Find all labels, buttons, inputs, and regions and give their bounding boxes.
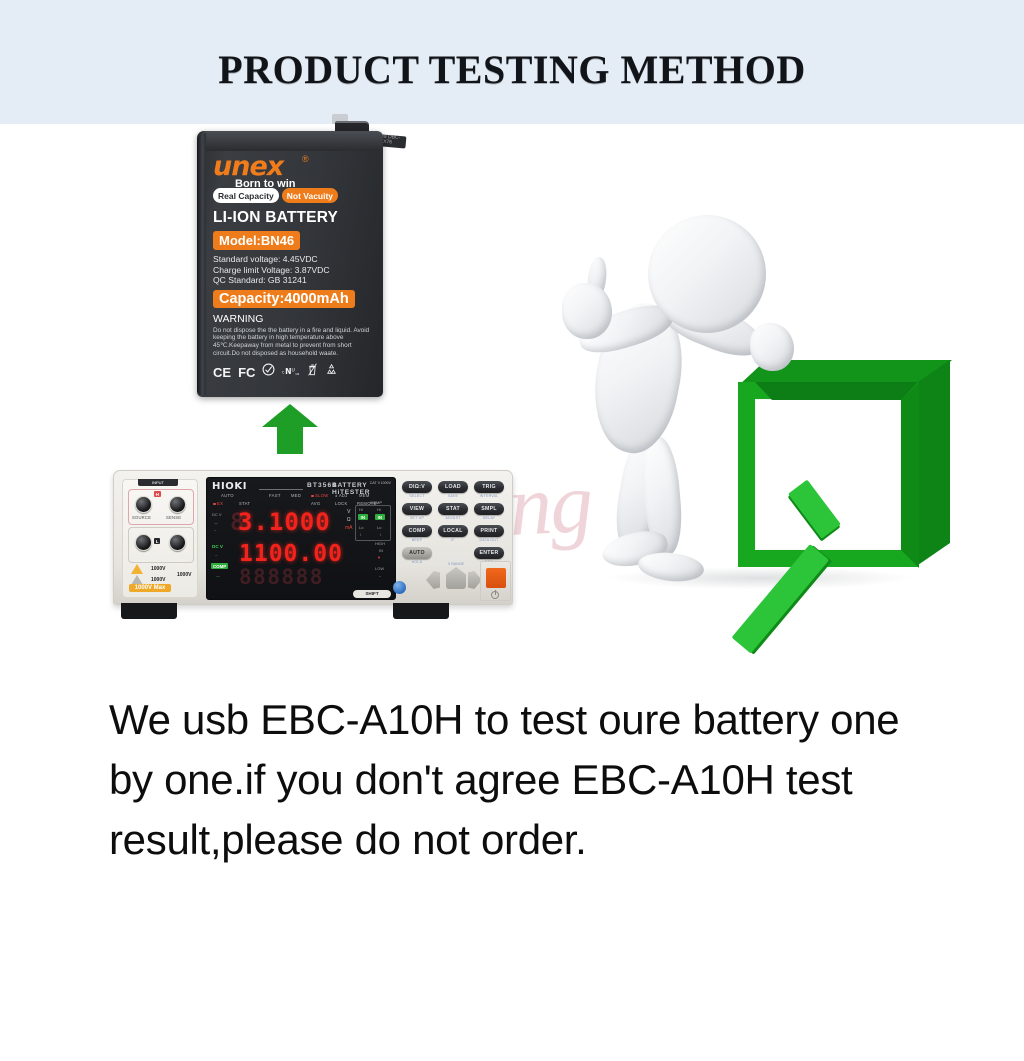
nav-up-button[interactable]	[446, 567, 466, 589]
battery-logo-row: unex ® Born to win	[213, 153, 379, 183]
input-label: INPUT	[138, 479, 178, 486]
indicator-lock: LOCK	[335, 501, 348, 506]
nav-left-button[interactable]	[426, 571, 440, 589]
figure-head	[648, 215, 766, 333]
power-symbol-icon	[491, 591, 499, 599]
unex-logo: unex	[213, 153, 379, 181]
green-checkbox-3d	[730, 360, 950, 575]
source-label: SOURCE	[132, 515, 151, 520]
brand-divider	[259, 489, 303, 490]
arrow-shaft	[277, 424, 303, 454]
primary-mode-label: DC V	[212, 512, 222, 517]
weee-bin-icon	[307, 363, 318, 381]
key-sub-trig: INTERVAL	[474, 494, 504, 498]
secondary-readout-value: 1100.00	[239, 541, 343, 567]
key-sub-comp: BEEP	[402, 538, 432, 542]
battery-left-edge	[197, 133, 206, 395]
indicator-slow: SLOW	[311, 493, 329, 498]
key-sub-load: SAVE	[438, 494, 468, 498]
comp-arrow-left-icon: \	[360, 532, 361, 537]
key-sub-local: IF	[438, 538, 468, 542]
indicator-med: MED	[291, 493, 301, 498]
key-sub-stat: ADJUST	[438, 516, 468, 520]
registered-mark-icon: ®	[302, 154, 309, 164]
green-up-arrow-icon	[262, 404, 318, 454]
key-trig[interactable]: TRIG	[474, 481, 504, 493]
secondary-label-in: IN	[379, 548, 383, 553]
hioki-brand-label: HIOKI	[212, 481, 247, 492]
indicator-auto: AUTO	[221, 493, 234, 498]
secondary-label-high: HIGH	[375, 541, 385, 546]
indicator-avg: AVG	[311, 501, 320, 506]
jack-sense-h[interactable]	[169, 496, 186, 513]
key-print[interactable]: PRINT	[474, 525, 504, 537]
secondary-ghost-digits: 888888	[239, 565, 324, 589]
terminal-l-mark: L	[154, 538, 160, 544]
key-sub-auto: HOLD	[402, 560, 432, 564]
hioki-battery-tester: INPUT H L SOURCE SENSE 1000V 1000V 1000V…	[113, 470, 513, 622]
voltage-mark-1: 1000V	[151, 566, 165, 572]
range-sub-label: V RANGE	[436, 562, 476, 566]
battery-tagline: Born to win	[235, 178, 379, 190]
checkmark-short-stroke	[788, 480, 841, 539]
secondary-mode-dash: ~	[215, 553, 217, 558]
indicator-stat: STAT	[239, 501, 250, 506]
comp-arrow-right-icon: /	[380, 532, 381, 537]
key-sub-smpl: DELAY	[474, 516, 504, 520]
checkbox-inner-top-shade	[755, 382, 918, 400]
key-local[interactable]: LOCAL	[438, 525, 468, 537]
certification-row: CE FC cNUus	[213, 363, 379, 381]
comp-row-hi-2: Hi	[377, 507, 381, 512]
warning-triangle-icon-1	[131, 564, 143, 574]
svg-text:us: us	[296, 372, 300, 376]
svg-text:N: N	[286, 367, 292, 376]
badge-real-capacity: Real Capacity	[213, 188, 279, 203]
indicator-ex: EX	[213, 501, 223, 506]
cat-rating-note: CAT II 1000V	[370, 481, 391, 485]
primary-mode-dash-1: —	[214, 520, 218, 525]
page-title: PRODUCT TESTING METHOD	[0, 46, 1024, 93]
battery-model-tag: Model:BN46	[213, 231, 300, 250]
figure-hand-left	[562, 283, 612, 339]
recycle-icon	[325, 363, 338, 381]
comp-cell-in-2: IN	[375, 514, 385, 520]
badge-not-vacuity: Not Vacuity	[282, 188, 338, 203]
key-smpl[interactable]: SMPL	[474, 503, 504, 515]
comp-row-hi-1: Hi	[359, 507, 363, 512]
unit-ma: mA	[345, 524, 353, 532]
tester-foot-right	[393, 603, 449, 619]
secondary-tilde-icon: ~	[379, 574, 381, 579]
secondary-mode-label: DC V	[212, 544, 223, 549]
secondary-comp-indicator: COMP	[211, 563, 228, 569]
shift-button[interactable]: SHIFT	[353, 590, 391, 598]
battery-top-strip	[201, 131, 383, 151]
voltage-mark-2: 1000V	[151, 577, 165, 583]
battery-spec-qc-standard: QC Standard: GB 31241	[213, 275, 379, 286]
tester-chassis: INPUT H L SOURCE SENSE 1000V 1000V 1000V…	[113, 470, 513, 605]
battery-badge-row: Real Capacity Not Vacuity	[213, 188, 379, 203]
blue-round-button[interactable]	[393, 581, 406, 594]
battery-warning-title: WARNING	[213, 313, 379, 325]
key-stat[interactable]: STAT	[438, 503, 468, 515]
battery-capacity-tag: Capacity:4000mAh	[213, 290, 355, 308]
primary-unit-column: V Ω mA	[345, 508, 353, 532]
ce-mark-icon: CE	[213, 365, 231, 380]
primary-mode-dash-2: ~	[214, 528, 216, 533]
secondary-arrow-down-icon: ▼	[377, 555, 381, 560]
comp-row-lo-2: Lo	[377, 525, 381, 530]
unit-ohm: Ω	[345, 516, 353, 524]
comp-cell-in-1: IN	[358, 514, 368, 520]
key-comp[interactable]: COMP	[402, 525, 432, 537]
cul-us-mark-icon: cNUus	[282, 365, 300, 379]
voltage-mark-3: 1000V	[177, 572, 191, 578]
comp-panel: Hi Hi IN IN Lo Lo \ /	[355, 505, 391, 541]
terminal-panel: INPUT H L SOURCE SENSE 1000V 1000V 1000V…	[122, 479, 198, 598]
key-auto[interactable]: AUTO	[402, 547, 432, 559]
battery-spec-charge-limit: Charge limit Voltage: 3.87VDC	[213, 265, 379, 276]
jack-sense-l[interactable]	[169, 534, 186, 551]
jack-source-h[interactable]	[135, 496, 152, 513]
svg-text:c: c	[282, 370, 284, 375]
indicator-adj: ± ADJ	[335, 493, 348, 498]
secondary-label-low: LOW	[375, 566, 384, 571]
battery-spec-standard-voltage: Standard voltage: 4.45VDC	[213, 254, 379, 265]
terminal-h-mark: H	[154, 491, 161, 497]
arrow-head	[262, 404, 318, 427]
fcc-mark-icon: FC	[238, 365, 255, 380]
check-circle-icon	[262, 363, 275, 381]
key-sub-view: SET UP	[402, 516, 432, 520]
power-button[interactable]	[486, 568, 506, 588]
primary-readout-value: 3.1000	[238, 508, 331, 536]
indicator-fast: FAST	[269, 493, 281, 498]
battery-warning-body: Do not dispose the the battery in a fire…	[213, 327, 371, 357]
svg-text:U: U	[292, 368, 295, 374]
caption-text: We usb EBC-A10H to test oure battery one…	[109, 690, 939, 870]
comp-row-lo-1: Lo	[359, 525, 363, 530]
sense-label: SENSE	[166, 515, 181, 520]
max-voltage-label: 1000V Max	[129, 584, 171, 592]
secondary-comp-dash: —	[216, 573, 220, 578]
thumbs-up-figure-scene	[540, 215, 990, 645]
key-sub-di-ohm-v: SELECT	[402, 494, 432, 498]
key-load[interactable]: LOAD	[438, 481, 468, 493]
key-di-ohm-v[interactable]: DIΩ:V	[402, 481, 432, 493]
battery-chemistry-type: LI-ION BATTERY	[213, 209, 379, 227]
key-sub-print: DATA OUT	[474, 538, 504, 542]
figure-hand-right	[750, 323, 794, 371]
display-panel: HIOKI BT3564 BATTERY HiTESTER CAT II 100…	[206, 477, 396, 600]
battery-label: unex ® Born to win Real Capacity Not Vac…	[213, 153, 379, 381]
key-enter[interactable]: ENTER	[474, 547, 504, 559]
checkmark-icon	[788, 448, 928, 558]
unit-volt: V	[345, 508, 353, 516]
battery-product-image: Pt+HB DBC-AX76 unex ® Born to win Real C…	[197, 131, 383, 397]
jack-source-l[interactable]	[135, 534, 152, 551]
tester-foot-left	[121, 603, 177, 619]
key-view[interactable]: VIEW	[402, 503, 432, 515]
indicator-mem: MEM	[359, 493, 370, 498]
